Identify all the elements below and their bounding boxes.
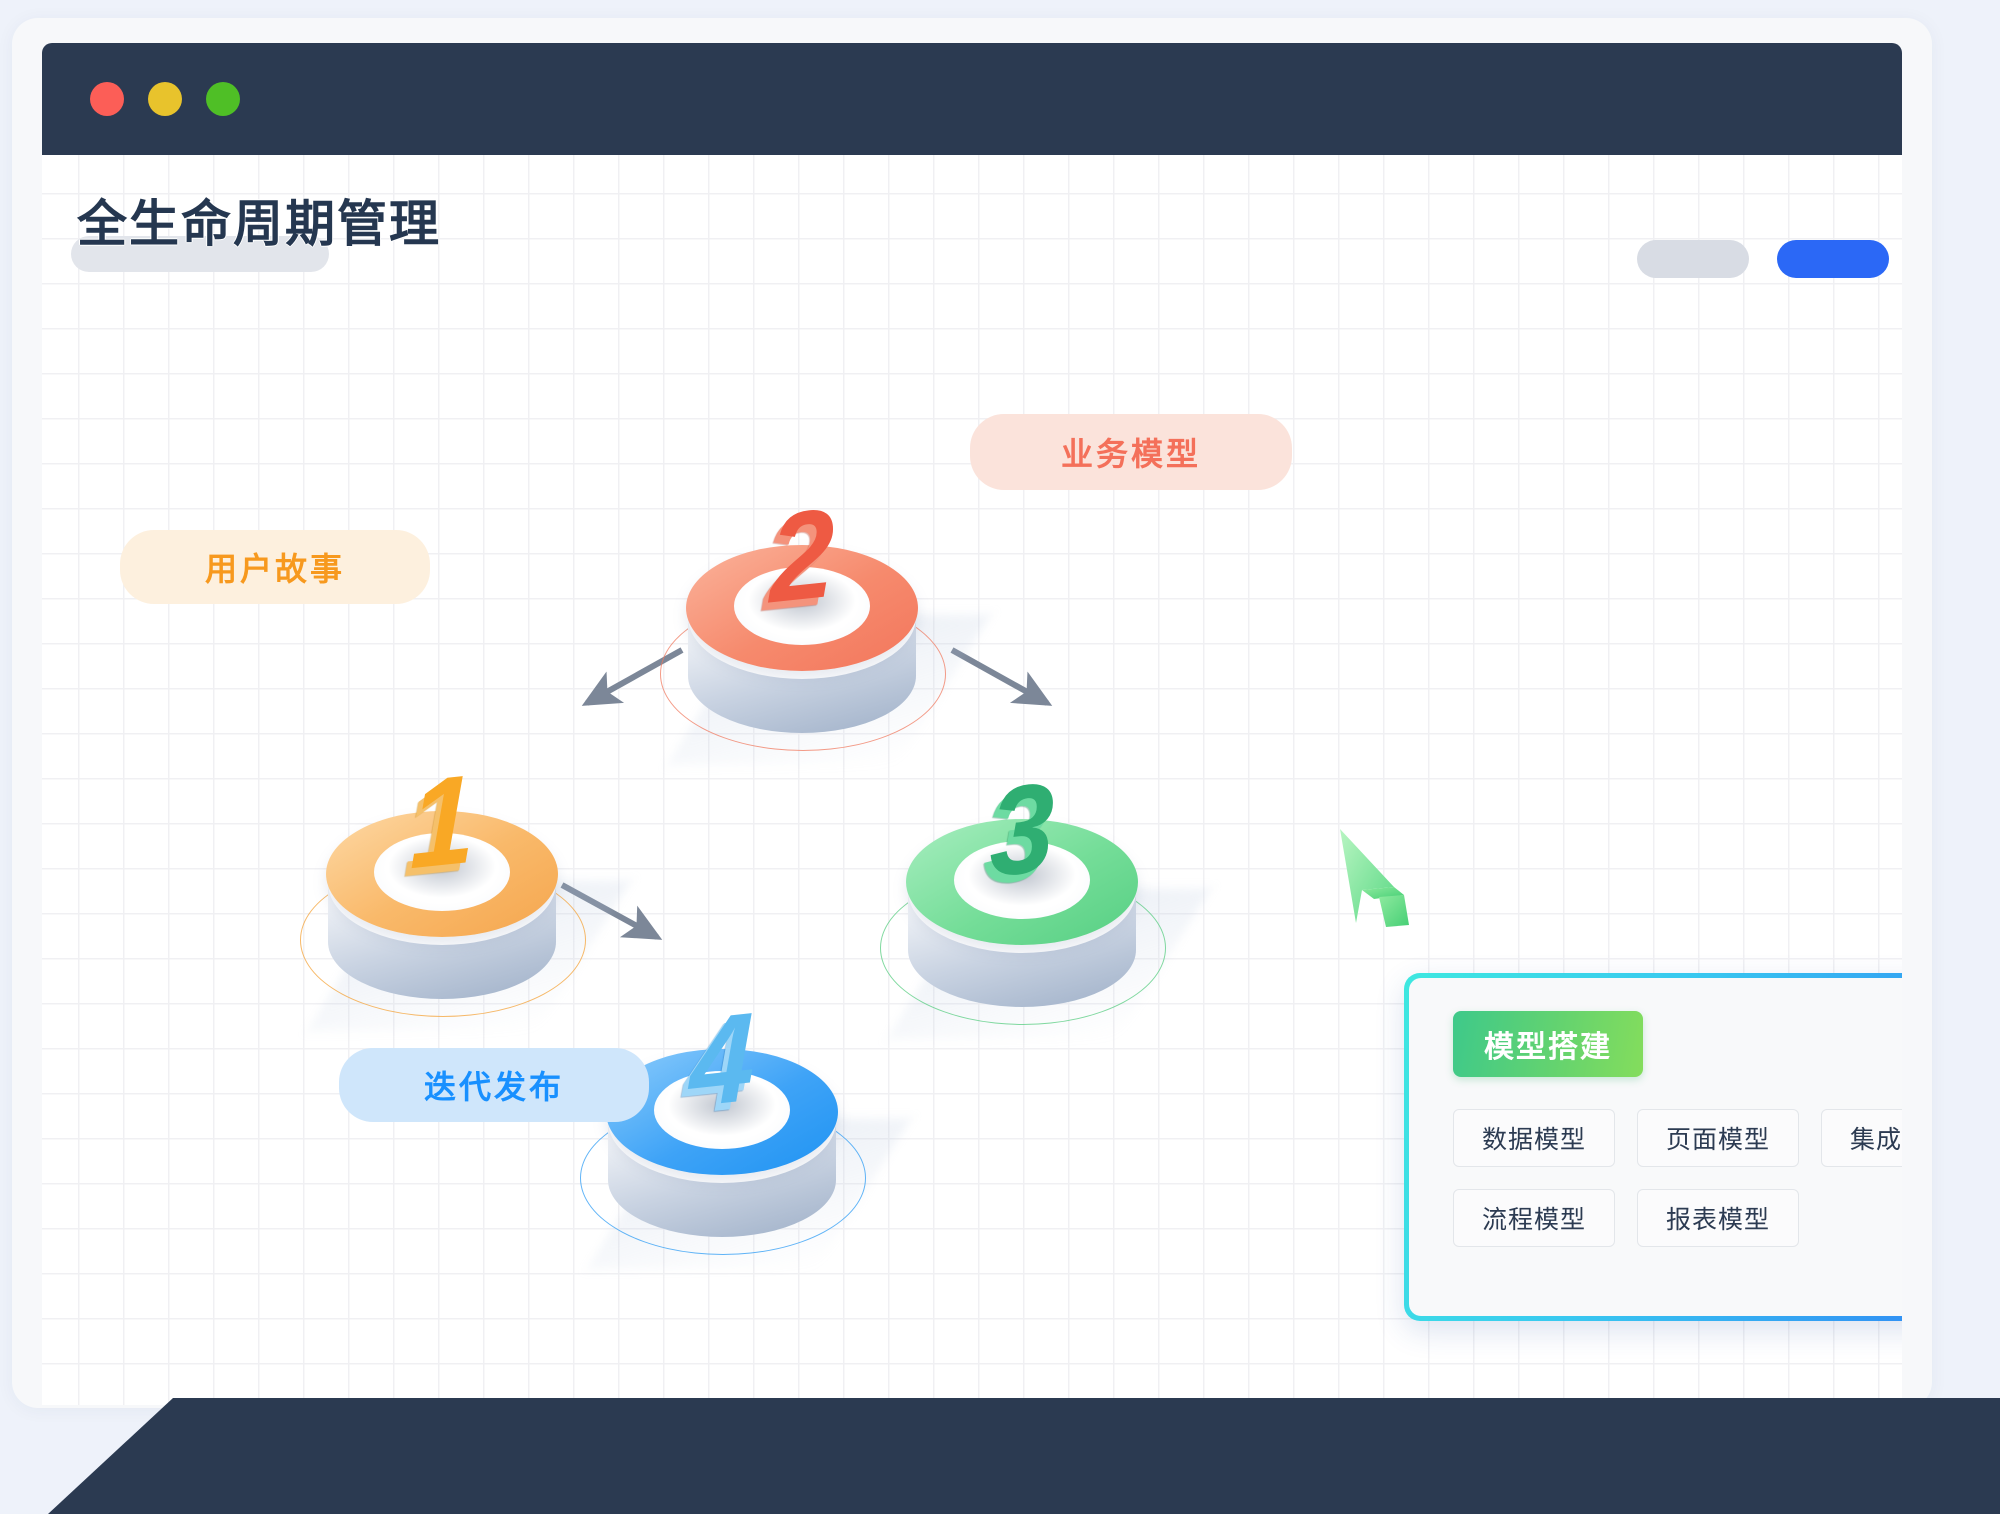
minimize-icon[interactable] [148,82,182,116]
device-base [0,1398,2000,1514]
maximize-icon[interactable] [206,82,240,116]
model-chip-page[interactable]: 页面模型 [1637,1109,1799,1167]
panel-badge[interactable]: 模型搭建 [1453,1011,1643,1077]
browser-window: 1 2 3 [12,18,1932,1408]
step-node-1[interactable]: 1 [292,773,592,1033]
label-pill-business-model: 业务模型 [970,414,1292,490]
close-icon[interactable] [90,82,124,116]
header-secondary-button[interactable] [1637,240,1749,278]
model-chip-integrate[interactable]: 集成模型 [1821,1109,1902,1167]
cursor-pointer-icon [1334,827,1434,957]
page-title: 全生命周期管理 [77,194,441,254]
header-primary-button[interactable] [1777,240,1889,278]
step-node-2[interactable]: 2 [652,507,952,767]
model-chip-process[interactable]: 流程模型 [1453,1189,1615,1247]
label-pill-iteration-release: 迭代发布 [339,1048,649,1122]
step-node-3[interactable]: 3 [872,781,1172,1041]
model-detail-panel-inner: 模型搭建 数据模型 页面模型 集成模型 流程模型 报表模型 [1409,978,1902,1316]
label-pill-user-story: 用户故事 [120,530,430,604]
arrow-2-to-3 [952,650,1047,703]
model-detail-panel: 模型搭建 数据模型 页面模型 集成模型 流程模型 报表模型 [1404,973,1902,1321]
page-title-wrap: 全生命周期管理 [77,194,441,254]
model-chip-report[interactable]: 报表模型 [1637,1189,1799,1247]
diagram-canvas: 1 2 3 [42,155,1902,1405]
model-chip-data[interactable]: 数据模型 [1453,1109,1615,1167]
window-title-bar [42,43,1902,155]
model-chip-list: 数据模型 页面模型 集成模型 流程模型 报表模型 [1453,1109,1902,1247]
